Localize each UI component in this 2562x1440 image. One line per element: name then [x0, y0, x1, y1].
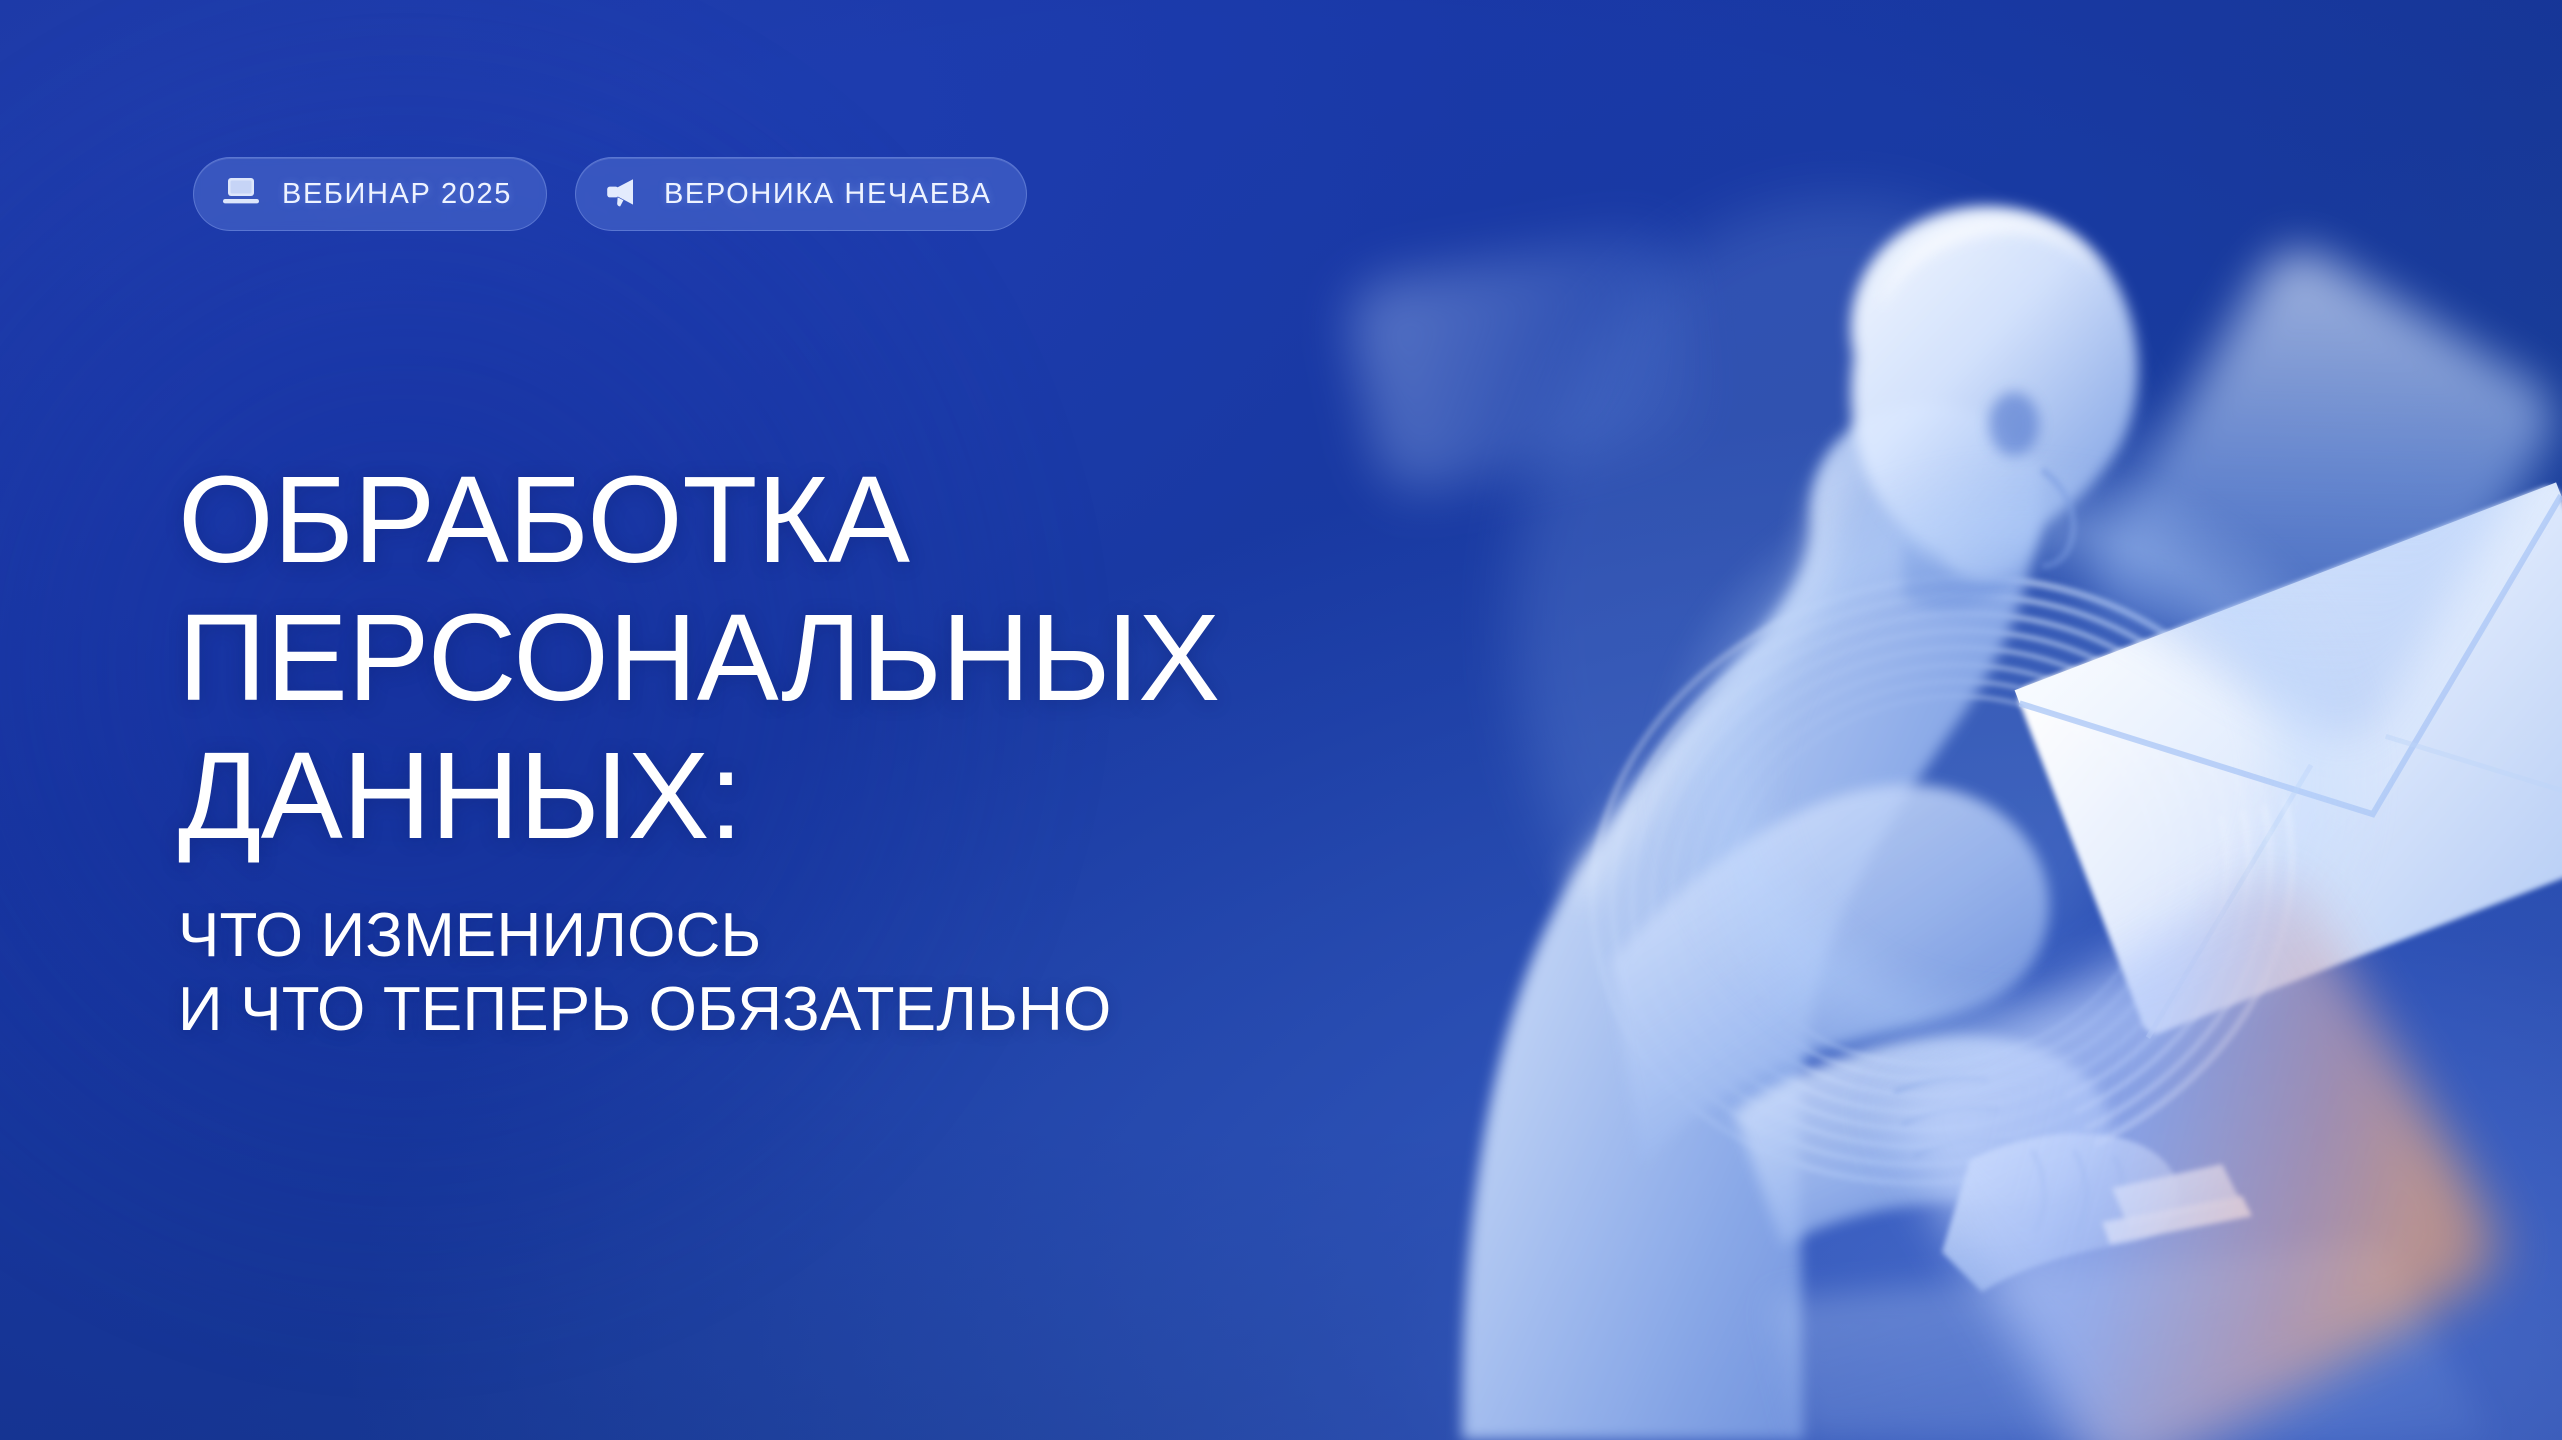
badge-row: ВЕБИНАР 2025 ВЕРОНИКА НЕЧАЕВА [193, 157, 1027, 231]
page-subtitle: ЧТО ИЗМЕНИЛОСЬ И ЧТО ТЕПЕРЬ ОБЯЗАТЕЛЬНО [178, 899, 1220, 1047]
badge-webinar-label: ВЕБИНАР 2025 [282, 178, 512, 211]
subtitle-line-2: И ЧТО ТЕПЕРЬ ОБЯЗАТЕЛЬНО [178, 973, 1220, 1047]
laptop-icon [222, 176, 260, 213]
title-line-3: ДАННЫХ: [178, 728, 1220, 866]
badge-webinar[interactable]: ВЕБИНАР 2025 [193, 157, 547, 231]
badge-speaker[interactable]: ВЕРОНИКА НЕЧАЕВА [575, 157, 1027, 231]
title-line-1: ОБРАБОТКА [178, 452, 1220, 590]
slide-root: ВЕБИНАР 2025 ВЕРОНИКА НЕЧАЕВА ОБРАБОТКА … [0, 0, 2562, 1440]
page-title: ОБРАБОТКА ПЕРСОНАЛЬНЫХ ДАННЫХ: [178, 452, 1220, 865]
title-line-2: ПЕРСОНАЛЬНЫХ [178, 590, 1220, 728]
subtitle-line-1: ЧТО ИЗМЕНИЛОСЬ [178, 899, 1220, 973]
megaphone-icon [604, 176, 642, 213]
badge-speaker-label: ВЕРОНИКА НЕЧАЕВА [664, 178, 992, 211]
headline-block: ОБРАБОТКА ПЕРСОНАЛЬНЫХ ДАННЫХ: ЧТО ИЗМЕН… [178, 452, 1220, 1047]
